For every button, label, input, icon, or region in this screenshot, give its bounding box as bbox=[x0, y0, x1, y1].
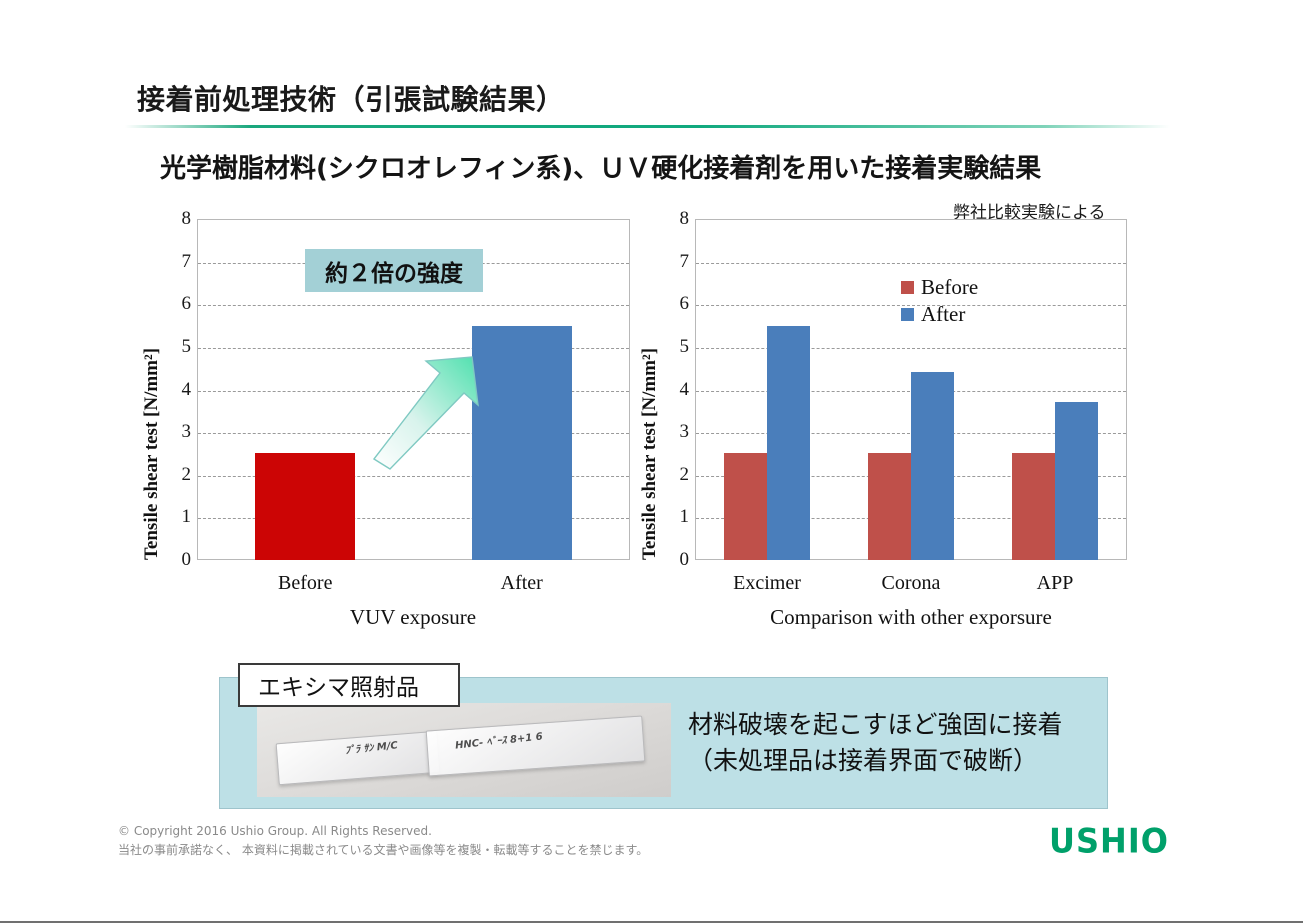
chart-right-y-axis-title: Tensile shear test [N/mm²] bbox=[639, 348, 661, 560]
y-tick-label: 5 bbox=[165, 336, 191, 358]
y-tick-label: 2 bbox=[165, 464, 191, 486]
bar bbox=[911, 372, 954, 560]
y-tick-label: 2 bbox=[663, 464, 689, 486]
y-tick-label: 4 bbox=[165, 379, 191, 401]
title-divider-rule bbox=[125, 125, 1170, 128]
bar bbox=[472, 326, 572, 560]
y-tick-label: 3 bbox=[165, 421, 191, 443]
y-tick-label: 8 bbox=[165, 208, 191, 230]
y-tick-label: 7 bbox=[165, 251, 191, 273]
y-tick-label: 4 bbox=[663, 379, 689, 401]
photo-caption-tag: エキシマ照射品 bbox=[238, 663, 460, 707]
chart-left-y-axis-title: Tensile shear test [N/mm²] bbox=[141, 348, 163, 560]
gridline bbox=[696, 263, 1126, 264]
y-tick-label: 3 bbox=[663, 421, 689, 443]
chart-right-x-axis-title: Comparison with other exporsure bbox=[770, 605, 1052, 630]
strength-callout-badge: 約２倍の強度 bbox=[305, 249, 483, 292]
y-tick-label: 6 bbox=[165, 293, 191, 315]
sample-photo: ﾌﾟﾗ ｻﾝ M/C HNC- ﾍﾞｰｽ 8+1 6 bbox=[257, 703, 671, 797]
photo-sample-left bbox=[276, 731, 441, 786]
bar bbox=[255, 453, 355, 560]
bar bbox=[767, 326, 810, 560]
y-tick-label: 8 bbox=[663, 208, 689, 230]
legend-item: After bbox=[901, 304, 978, 325]
footer-line-1: © Copyright 2016 Ushio Group. All Rights… bbox=[118, 822, 648, 841]
y-tick-label: 1 bbox=[165, 506, 191, 528]
footer-line-2: 当社の事前承諾なく、 本資料に掲載されている文書や画像等を複製・転載等することを… bbox=[118, 841, 648, 860]
legend-swatch bbox=[901, 281, 914, 294]
growth-arrow-icon bbox=[368, 355, 480, 470]
gridline bbox=[198, 305, 629, 306]
category-label: After bbox=[501, 572, 543, 595]
ushio-logo: USHIO bbox=[1049, 821, 1169, 861]
category-label: Excimer bbox=[733, 572, 801, 595]
y-tick-label: 0 bbox=[165, 549, 191, 571]
legend-swatch bbox=[901, 308, 914, 321]
page-subtitle: 光学樹脂材料(シクロオレフィン系)、ＵＶ硬化接着剤を用いた接着実験結果 bbox=[160, 148, 1041, 185]
chart-comparison-other-exposure: Tensile shear test [N/mm²] 012345678 Exc… bbox=[655, 205, 1155, 635]
y-tick-label: 1 bbox=[663, 506, 689, 528]
gridline bbox=[696, 348, 1126, 349]
chart-left-x-axis-title: VUV exposure bbox=[350, 605, 476, 630]
bar bbox=[724, 453, 767, 560]
y-tick-label: 5 bbox=[663, 336, 689, 358]
chart-right-legend: BeforeAfter bbox=[901, 277, 978, 331]
slide-canvas: 接着前処理技術（引張試験結果） 光学樹脂材料(シクロオレフィン系)、ＵＶ硬化接着… bbox=[0, 0, 1303, 923]
bar bbox=[868, 453, 911, 560]
page-title: 接着前処理技術（引張試験結果） bbox=[137, 78, 565, 118]
info-text-line-2: （未処理品は接着界面で破断） bbox=[688, 743, 1063, 779]
y-tick-label: 7 bbox=[663, 251, 689, 273]
info-panel-text: 材料破壊を起こすほど強固に接着 （未処理品は接着界面で破断） bbox=[688, 707, 1063, 778]
category-label: APP bbox=[1037, 572, 1074, 595]
legend-label: Before bbox=[921, 277, 978, 298]
y-tick-label: 6 bbox=[663, 293, 689, 315]
category-label: Before bbox=[278, 572, 332, 595]
legend-label: After bbox=[921, 304, 965, 325]
legend-item: Before bbox=[901, 277, 978, 298]
info-text-line-1: 材料破壊を起こすほど強固に接着 bbox=[688, 707, 1063, 743]
y-tick-label: 0 bbox=[663, 549, 689, 571]
bar bbox=[1012, 453, 1055, 560]
bar bbox=[1055, 402, 1098, 560]
category-label: Corona bbox=[882, 572, 941, 595]
footer-copyright: © Copyright 2016 Ushio Group. All Rights… bbox=[118, 822, 648, 860]
